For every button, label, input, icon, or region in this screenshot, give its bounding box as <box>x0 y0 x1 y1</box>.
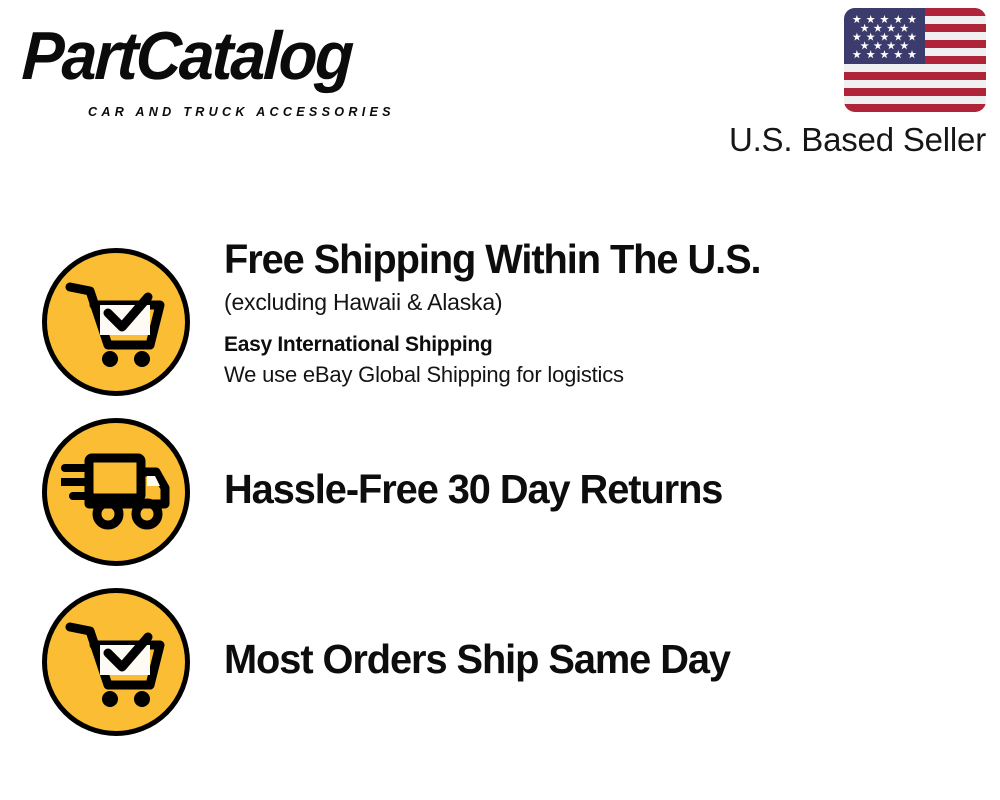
feature-row-same-day-ship: Most Orders Ship Same Day <box>42 588 746 736</box>
feature-text-block: Free Shipping Within The U.S. (excluding… <box>190 236 777 389</box>
flag-stripe <box>844 96 986 104</box>
feature-note: We use eBay Global Shipping for logistic… <box>224 360 777 389</box>
flag-stripe <box>844 104 986 112</box>
flag-stripe <box>844 72 986 80</box>
promo-banner: PartCatalog CAR AND TRUCK ACCESSORIES <box>0 0 1000 800</box>
flag-stripe <box>844 88 986 96</box>
feature-bold-line: Easy International Shipping <box>224 331 777 358</box>
logo-wordmark: PartCatalog <box>20 20 470 92</box>
seller-badge-label: U.S. Based Seller <box>706 121 986 159</box>
shopping-cart-check-icon <box>42 588 190 736</box>
flag-star-row <box>850 15 919 24</box>
feature-heading: Free Shipping Within The U.S. <box>224 236 761 282</box>
flag-star-row <box>850 41 919 50</box>
logo-tagline: CAR AND TRUCK ACCESSORIES <box>88 104 395 119</box>
delivery-truck-icon <box>42 418 190 566</box>
flag-stripe <box>844 64 986 72</box>
flag-stripe <box>844 80 986 88</box>
feature-heading: Most Orders Ship Same Day <box>224 636 730 682</box>
flag-star-row <box>850 50 919 59</box>
shopping-cart-check-icon <box>42 248 190 396</box>
feature-subtext: (excluding Hawaii & Alaska) <box>224 287 777 317</box>
flag-star-row <box>850 24 919 33</box>
flag-canton <box>844 8 925 64</box>
us-based-seller-badge: U.S. Based Seller <box>706 8 986 159</box>
feature-text-block: Hassle-Free 30 Day Returns <box>190 418 738 512</box>
feature-row-returns: Hassle-Free 30 Day Returns <box>42 418 738 566</box>
us-flag-icon <box>844 8 986 112</box>
feature-heading: Hassle-Free 30 Day Returns <box>224 466 722 512</box>
brand-logo[interactable]: PartCatalog CAR AND TRUCK ACCESSORIES <box>24 20 504 120</box>
feature-text-block: Most Orders Ship Same Day <box>190 588 746 682</box>
feature-row-free-shipping: Free Shipping Within The U.S. (excluding… <box>42 248 777 396</box>
flag-star-row <box>850 33 919 42</box>
